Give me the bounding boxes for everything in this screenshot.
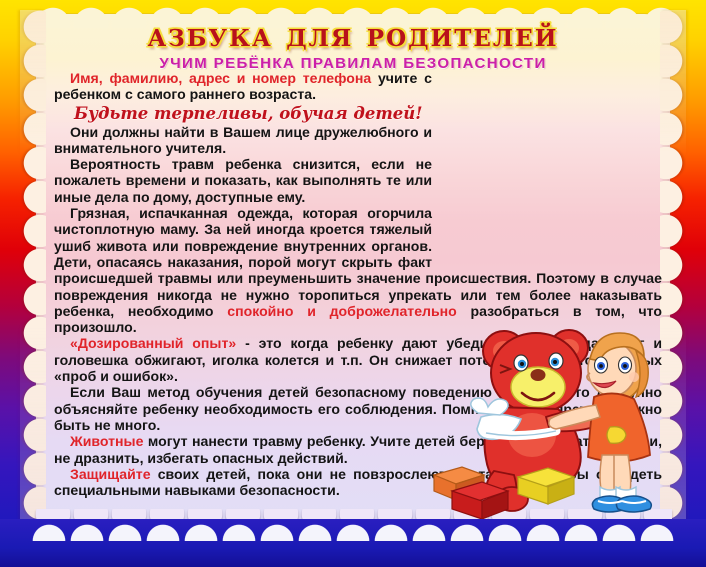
illustration-wrap (440, 72, 672, 268)
intro-highlight: Имя, фамилию, адрес и номер телефона (70, 70, 371, 86)
wave-crest (30, 521, 676, 541)
bottom-wave-band (0, 519, 706, 567)
poster-header: Азбука для родителей Учим ребёнка правил… (36, 18, 670, 72)
page-title: Азбука для родителей (36, 18, 670, 52)
paragraph-dirty-clothes-highlight: спокойно и доброжелательно (227, 303, 457, 319)
safety-poster: Азбука для родителей Учим ребёнка правил… (0, 0, 706, 567)
animals-highlight: Животные (70, 433, 143, 449)
blue-shoes (592, 496, 651, 512)
protect-highlight: Защищайте (70, 466, 151, 482)
illustration-teddy-and-girl (426, 321, 676, 521)
dosed-experience-highlight: «Дозированный опыт» (70, 335, 236, 351)
